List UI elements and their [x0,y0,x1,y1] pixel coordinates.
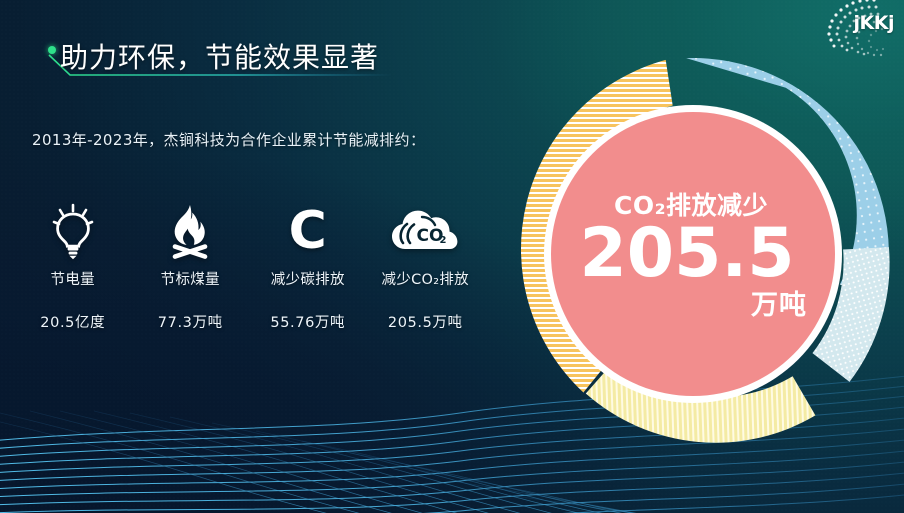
page-title-block: 助力环保，节能效果显著 [46,40,476,80]
carbon-letter: C [289,205,327,257]
stats-row: 节电量 20.5亿度 节标煤量 77.3万吨 C 减少碳排放 55.76万吨 [14,200,484,332]
slide-canvas: jKKj 助力环保，节能效果显著 2013年 [0,0,904,513]
stat-label: 减少CO₂排放 [382,268,469,289]
stat-label: 减少碳排放 [271,268,345,289]
stat-value: 77.3万吨 [158,311,223,332]
stat-value: 55.76万吨 [270,311,345,332]
stat-label: 节标煤量 [161,268,220,289]
lightbulb-icon [14,200,132,262]
stat-item-carbon-reduced: C 减少碳排放 55.76万吨 [249,200,367,332]
carbon-c-icon: C [249,200,367,262]
brand-logo[interactable]: jKKj [808,0,904,46]
co2-cloud-icon: CO 2 [367,200,485,262]
stat-item-coal-saved: 节标煤量 77.3万吨 [132,200,250,332]
stat-label-text: 减少CO₂排放 [382,272,469,288]
intro-text: 2013年-2023年，杰锏科技为合作企业累计节能减排约： [32,126,482,155]
stat-value: 20.5亿度 [40,311,105,332]
stat-item-co2-reduced: CO 2 减少CO₂排放 205.5万吨 [367,200,485,332]
stat-value: 205.5万吨 [388,311,463,332]
stat-item-power-saved: 节电量 20.5亿度 [14,200,132,332]
donut-center-disc [551,112,835,396]
brand-logo-text: jKKj [854,12,894,34]
page-title: 助力环保，节能效果显著 [60,36,379,76]
title-bullet-dot [48,46,56,54]
flame-icon [132,200,250,262]
stat-label: 节电量 [51,268,95,289]
co2-reduction-donut: CO₂排放减少 205.5 万吨 [488,44,898,464]
